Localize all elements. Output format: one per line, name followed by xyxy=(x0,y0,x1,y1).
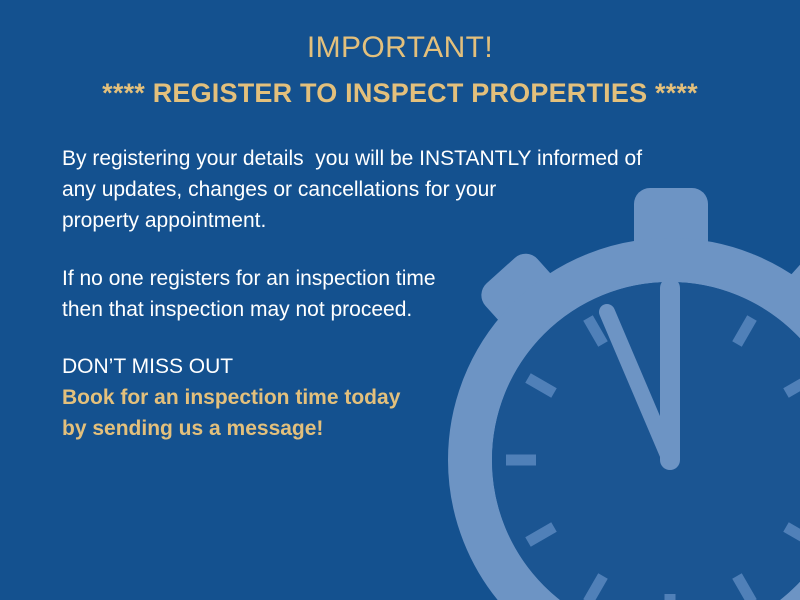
paragraph-registering-line-3: property appointment. xyxy=(62,205,722,236)
spacer-2 xyxy=(62,325,722,351)
spacer-1 xyxy=(62,236,722,263)
cta-line-3: by sending us a message! xyxy=(62,413,722,444)
headline-register: **** REGISTER TO INSPECT PROPERTIES **** xyxy=(0,74,800,112)
body-block: By registering your details you will be … xyxy=(62,143,722,444)
cta-dont-miss-out: DON’T MISS OUT xyxy=(62,351,722,382)
paragraph-registering: By registering your details you will be … xyxy=(62,143,722,236)
paragraph-no-registration-line-1: If no one registers for an inspection ti… xyxy=(62,263,722,294)
paragraph-no-registration-line-2: then that inspection may not proceed. xyxy=(62,294,722,325)
headline-important: IMPORTANT! xyxy=(0,30,800,66)
cta-line-1: DON’T MISS OUT xyxy=(62,351,722,382)
headline-block: IMPORTANT! **** REGISTER TO INSPECT PROP… xyxy=(0,30,800,112)
cta-line-2: Book for an inspection time today xyxy=(62,382,722,413)
paragraph-registering-line-1: By registering your details you will be … xyxy=(62,143,722,174)
paragraph-registering-line-2: any updates, changes or cancellations fo… xyxy=(62,174,722,205)
slide-canvas: IMPORTANT! **** REGISTER TO INSPECT PROP… xyxy=(0,0,800,600)
slide-content: IMPORTANT! **** REGISTER TO INSPECT PROP… xyxy=(0,0,800,600)
cta-book-inspection: Book for an inspection time today by sen… xyxy=(62,382,722,444)
paragraph-no-registration: If no one registers for an inspection ti… xyxy=(62,263,722,325)
